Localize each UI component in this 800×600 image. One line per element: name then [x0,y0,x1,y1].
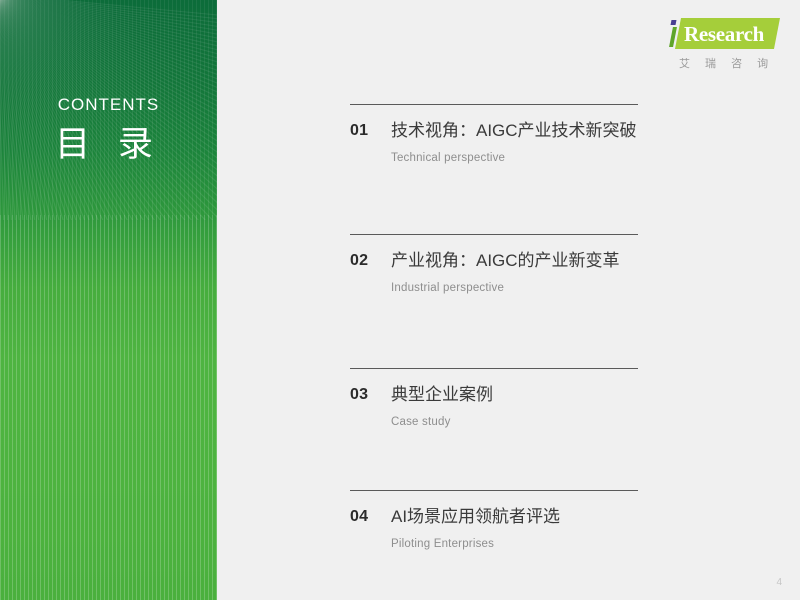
toc-subtitle: Case study [391,415,638,429]
toc-entry-body: 03 典型企业案例 Case study [350,369,638,429]
slide-canvas: CONTENTS 目 录 Research 艾 瑞 咨 询 01 技术视角：AI… [0,0,800,600]
toc-entry-body: 02 产业视角：AIGC的产业新变革 Industrial perspectiv… [350,235,638,295]
table-of-contents: 01 技术视角：AIGC产业技术新突破 Technical perspectiv… [350,104,638,551]
toc-title: 技术视角：AIGC产业技术新突破 [391,120,638,142]
toc-entry-body: 04 AI场景应用领航者评选 Piloting Enterprises [350,491,638,551]
toc-entry-02[interactable]: 02 产业视角：AIGC的产业新变革 Industrial perspectiv… [350,234,638,295]
toc-gap [350,429,638,490]
sidebar-panel: CONTENTS 目 录 [0,0,217,600]
toc-subtitle: Technical perspective [391,151,638,165]
toc-text-group: 典型企业案例 Case study [391,384,638,429]
iresearch-logo: Research 艾 瑞 咨 询 [665,18,777,76]
toc-entry-04[interactable]: 04 AI场景应用领航者评选 Piloting Enterprises [350,490,638,551]
toc-subtitle: Piloting Enterprises [391,537,638,551]
toc-gap [350,165,638,234]
pinstripe-texture-lower [0,215,217,600]
toc-title: 典型企业案例 [391,384,638,406]
logo-wordmark: Research [684,22,764,46]
logo-letter-i-dot [671,20,677,25]
toc-gap [350,295,638,368]
toc-text-group: 技术视角：AIGC产业技术新突破 Technical perspective [391,120,638,165]
toc-subtitle: Industrial perspective [391,281,638,295]
toc-entry-body: 01 技术视角：AIGC产业技术新突破 Technical perspectiv… [350,105,638,165]
toc-text-group: AI场景应用领航者评选 Piloting Enterprises [391,506,638,551]
toc-number: 02 [350,250,391,272]
logo-mark: Research [665,18,777,52]
contents-label: CONTENTS [0,96,217,113]
toc-number: 03 [350,384,391,406]
sidebar-heading-group: CONTENTS 目 录 [0,96,217,162]
toc-title: AI场景应用领航者评选 [391,506,638,528]
toc-number: 04 [350,506,391,528]
toc-entry-03[interactable]: 03 典型企业案例 Case study [350,368,638,429]
page-number: 4 [776,578,782,588]
toc-title: 产业视角：AIGC的产业新变革 [391,250,638,272]
toc-text-group: 产业视角：AIGC的产业新变革 Industrial perspective [391,250,638,295]
toc-number: 01 [350,120,391,142]
logo-chinese-name: 艾 瑞 咨 询 [665,59,777,70]
toc-entry-01[interactable]: 01 技术视角：AIGC产业技术新突破 Technical perspectiv… [350,104,638,165]
contents-label-chinese: 目 录 [0,127,217,162]
